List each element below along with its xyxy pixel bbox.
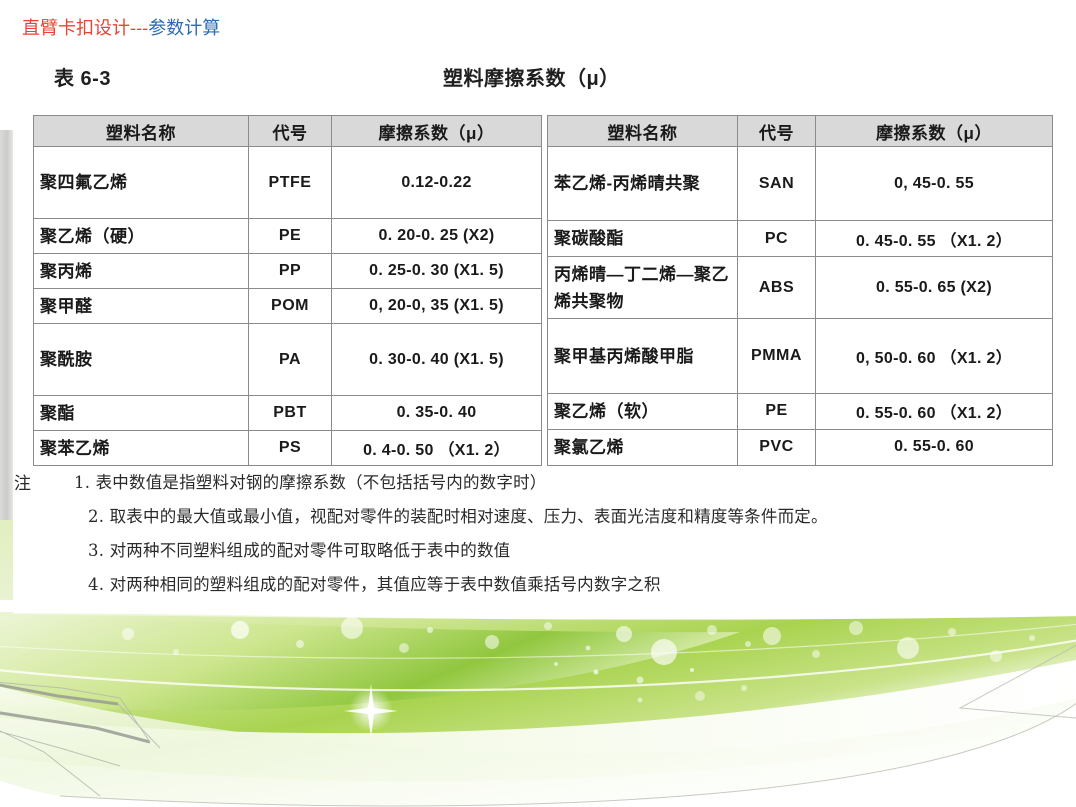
note-item: 1. 表中数值是指塑料对钢的摩擦系数（不包括括号内的数字时） — [74, 466, 1064, 500]
friction-table-right: 塑料名称 代号 摩擦系数（μ） 苯乙烯-丙烯晴共聚 SAN 0, 45-0. 5… — [547, 115, 1053, 466]
cell-plastic-name: 苯乙烯-丙烯晴共聚 — [548, 147, 738, 221]
cell-friction: 0. 25-0. 30 (X1. 5) — [332, 254, 542, 289]
cell-plastic-name: 聚乙烯（软） — [548, 393, 738, 429]
cell-friction: 0. 20-0. 25 (X2) — [332, 219, 542, 254]
table-title-label: 塑料摩擦系数（μ） — [443, 62, 620, 91]
notes-label: 注 — [14, 469, 31, 494]
cell-friction: 0, 45-0. 55 — [816, 147, 1053, 221]
table-row: 聚甲基丙烯酸甲脂 PMMA 0, 50-0. 60 （X1. 2） — [548, 319, 1053, 393]
cell-friction: 0. 45-0. 55 （X1. 2） — [816, 221, 1053, 257]
bottom-decoration-graphic — [0, 600, 1076, 807]
cell-code: PA — [249, 324, 332, 396]
header-friction: 摩擦系数（μ） — [816, 116, 1053, 147]
header-code: 代号 — [738, 116, 816, 147]
cell-plastic-name: 聚乙烯（硬） — [34, 219, 249, 254]
cell-friction: 0. 55-0. 60 （X1. 2） — [816, 393, 1053, 429]
cell-friction: 0. 30-0. 40 (X1. 5) — [332, 324, 542, 396]
table-row: 聚甲醛 POM 0, 20-0, 35 (X1. 5) — [34, 289, 542, 324]
slide-title-red: 直臂卡扣设计--- — [22, 18, 148, 39]
content-background-strip — [0, 600, 1076, 612]
cell-friction: 0.12-0.22 — [332, 147, 542, 219]
cell-friction: 0. 55-0. 60 — [816, 429, 1053, 465]
cell-code: PBT — [249, 396, 332, 431]
table-row: 聚酯 PBT 0. 35-0. 40 — [34, 396, 542, 431]
cell-code: PTFE — [249, 147, 332, 219]
swoosh-shapes — [0, 613, 1076, 806]
swoosh-svg — [0, 600, 1076, 807]
table-row: 丙烯晴—丁二烯—聚乙烯共聚物 ABS 0. 55-0. 65 (X2) — [548, 257, 1053, 319]
friction-tables: 塑料名称 代号 摩擦系数（μ） 聚四氟乙烯 PTFE 0.12-0.22 聚乙烯… — [33, 115, 1051, 466]
cell-friction: 0. 35-0. 40 — [332, 396, 542, 431]
friction-table-left: 塑料名称 代号 摩擦系数（μ） 聚四氟乙烯 PTFE 0.12-0.22 聚乙烯… — [33, 115, 542, 466]
cell-code: PS — [249, 431, 332, 466]
header-plastic-name: 塑料名称 — [548, 116, 738, 147]
table-row: 聚酰胺 PA 0. 30-0. 40 (X1. 5) — [34, 324, 542, 396]
slide-canvas: 直臂卡扣设计---参数计算 表 6-3 塑料摩擦系数（μ） 塑料名称 代号 摩擦… — [0, 0, 1076, 807]
cell-plastic-name: 聚四氟乙烯 — [34, 147, 249, 219]
header-plastic-name: 塑料名称 — [34, 116, 249, 147]
table-row: 聚碳酸酯 PC 0. 45-0. 55 （X1. 2） — [548, 221, 1053, 257]
cell-plastic-name: 聚苯乙烯 — [34, 431, 249, 466]
cell-code: PVC — [738, 429, 816, 465]
cell-code: POM — [249, 289, 332, 324]
header-code: 代号 — [249, 116, 332, 147]
cell-plastic-name: 聚酯 — [34, 396, 249, 431]
cell-code: PE — [738, 393, 816, 429]
table-row: 聚氯乙烯 PVC 0. 55-0. 60 — [548, 429, 1053, 465]
cell-code: SAN — [738, 147, 816, 221]
table-header-row: 塑料名称 代号 摩擦系数（μ） — [548, 116, 1053, 147]
cell-code: PE — [249, 219, 332, 254]
cell-plastic-name: 聚酰胺 — [34, 324, 249, 396]
left-edge-band — [0, 130, 13, 530]
slide-title-blue: 参数计算 — [148, 18, 220, 39]
cell-plastic-name: 聚氯乙烯 — [548, 429, 738, 465]
cell-code: PP — [249, 254, 332, 289]
cell-plastic-name: 聚碳酸酯 — [548, 221, 738, 257]
cell-friction: 0. 4-0. 50 （X1. 2） — [332, 431, 542, 466]
header-friction: 摩擦系数（μ） — [332, 116, 542, 147]
cell-code: PMMA — [738, 319, 816, 393]
table-row: 聚丙烯 PP 0. 25-0. 30 (X1. 5) — [34, 254, 542, 289]
cell-plastic-name: 聚甲醛 — [34, 289, 249, 324]
note-item: 4. 对两种相同的塑料组成的配对零件，其值应等于表中数值乘括号内数字之积 — [74, 568, 1064, 602]
cell-plastic-name: 丙烯晴—丁二烯—聚乙烯共聚物 — [548, 257, 738, 319]
table-caption-row: 表 6-3 塑料摩擦系数（μ） — [0, 62, 1076, 96]
table-number-label: 表 6-3 — [54, 62, 111, 91]
table-row: 聚四氟乙烯 PTFE 0.12-0.22 — [34, 147, 542, 219]
slide-title: 直臂卡扣设计---参数计算 — [22, 17, 220, 41]
table-row: 聚乙烯（硬） PE 0. 20-0. 25 (X2) — [34, 219, 542, 254]
table-row: 苯乙烯-丙烯晴共聚 SAN 0, 45-0. 55 — [548, 147, 1053, 221]
note-item: 2. 取表中的最大值或最小值，视配对零件的装配时相对速度、压力、表面光洁度和精度… — [74, 500, 1064, 534]
cell-friction: 0. 55-0. 65 (X2) — [816, 257, 1053, 319]
table-row: 聚乙烯（软） PE 0. 55-0. 60 （X1. 2） — [548, 393, 1053, 429]
table-row: 聚苯乙烯 PS 0. 4-0. 50 （X1. 2） — [34, 431, 542, 466]
notes-list: 1. 表中数值是指塑料对钢的摩擦系数（不包括括号内的数字时） 2. 取表中的最大… — [74, 466, 1064, 602]
table-notes: 注 1. 表中数值是指塑料对钢的摩擦系数（不包括括号内的数字时） 2. 取表中的… — [14, 466, 1064, 602]
cell-plastic-name: 聚甲基丙烯酸甲脂 — [548, 319, 738, 393]
cell-code: PC — [738, 221, 816, 257]
note-item: 3. 对两种不同塑料组成的配对零件可取略低于表中的数值 — [74, 534, 1064, 568]
cell-code: ABS — [738, 257, 816, 319]
cell-friction: 0, 50-0. 60 （X1. 2） — [816, 319, 1053, 393]
cell-friction: 0, 20-0, 35 (X1. 5) — [332, 289, 542, 324]
cell-plastic-name: 聚丙烯 — [34, 254, 249, 289]
table-header-row: 塑料名称 代号 摩擦系数（μ） — [34, 116, 542, 147]
